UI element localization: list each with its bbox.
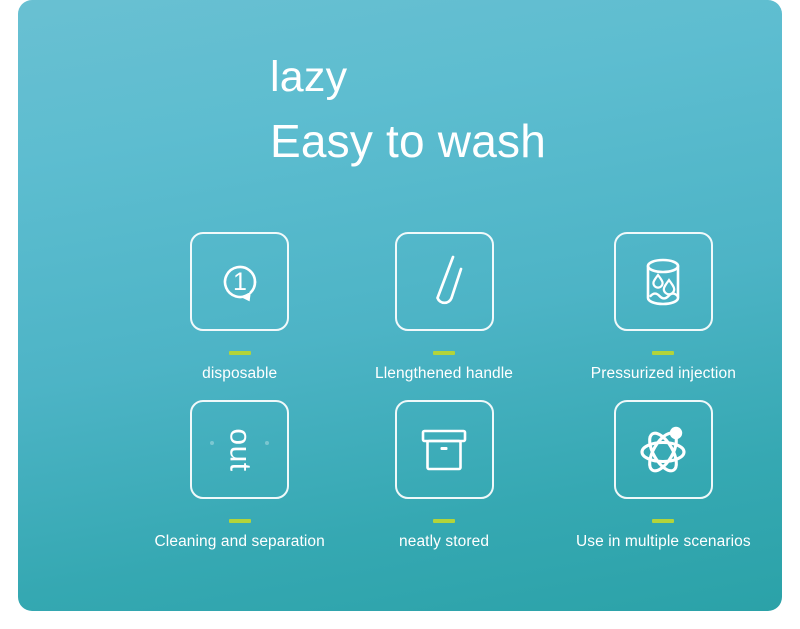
feature-item-stored[interactable]: neatly stored (339, 400, 548, 551)
accent-dash (229, 519, 251, 523)
refresh-one-icon: 1 (209, 251, 271, 313)
feature-row-1: 1 disposable (118, 232, 778, 383)
headline-line-1: lazy (270, 50, 740, 104)
icon-digit-label: 1 (233, 268, 247, 296)
icon-box-handle (395, 232, 494, 331)
feature-label-disposable: disposable (202, 364, 277, 383)
headline-line-2: Easy to wash (270, 112, 740, 170)
headline-block: lazy Easy to wash (270, 50, 740, 170)
promo-panel: lazy Easy to wash 1 (18, 0, 782, 611)
separation-tick-left (210, 441, 214, 445)
feature-label-scenarios: Use in multiple scenarios (576, 532, 751, 551)
storage-box-icon (413, 421, 475, 479)
separation-tick-right (265, 441, 269, 445)
feature-label-stored: neatly stored (399, 532, 489, 551)
feature-item-disposable[interactable]: 1 disposable (140, 232, 339, 383)
feature-item-injection[interactable]: Pressurized injection (549, 232, 778, 383)
accent-dash (433, 351, 455, 355)
feature-grid: 1 disposable (118, 232, 778, 551)
page-root: lazy Easy to wash 1 (0, 0, 800, 629)
feature-label-handle: Llengthened handle (375, 364, 513, 383)
icon-box-separation: out (190, 400, 289, 499)
feature-label-injection: Pressurized injection (591, 364, 736, 383)
accent-dash (229, 351, 251, 355)
tongs-handle-icon (413, 249, 475, 315)
water-bucket-icon (632, 251, 694, 313)
icon-box-stored (395, 400, 494, 499)
feature-row-2: out Cleaning and separation (118, 400, 778, 551)
feature-item-scenarios[interactable]: Use in multiple scenarios (549, 400, 778, 551)
accent-dash (652, 519, 674, 523)
accent-dash (652, 351, 674, 355)
icon-box-disposable: 1 (190, 232, 289, 331)
accent-dash (433, 519, 455, 523)
icon-box-injection (614, 232, 713, 331)
out-label: out (225, 428, 255, 471)
feature-item-separation[interactable]: out Cleaning and separation (140, 400, 339, 551)
feature-label-separation: Cleaning and separation (155, 532, 325, 551)
out-separation-icon: out (192, 400, 287, 499)
feature-item-handle[interactable]: Llengthened handle (339, 232, 548, 383)
atom-icon (631, 418, 695, 482)
icon-box-scenarios (614, 400, 713, 499)
